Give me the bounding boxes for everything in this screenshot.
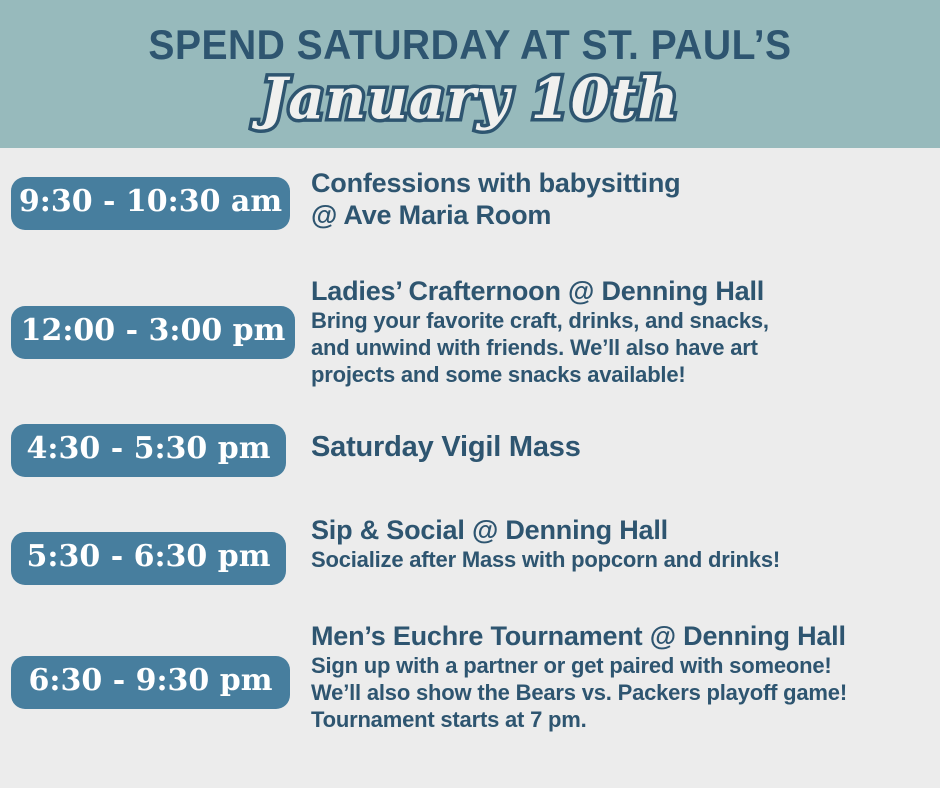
event-title: Confessions with babysitting [311,167,936,199]
event-description-line: Bring your favorite craft, drinks, and s… [311,307,936,334]
event-details: Men’s Euchre Tournament @ Denning HallSi… [311,620,936,733]
event-description-line: Tournament starts at 7 pm. [311,706,936,733]
schedule-list: 9:30 - 10:30 amConfessions with babysitt… [0,148,940,788]
page-title: SPEND SATURDAY AT ST. PAUL’S [33,22,907,68]
event-time-badge: 9:30 - 10:30 am [11,177,290,230]
event-description: Bring your favorite craft, drinks, and s… [311,307,936,388]
event-description-line: projects and some snacks available! [311,361,936,388]
event-description-line: Sign up with a partner or get paired wit… [311,652,936,679]
event-description-line: We’ll also show the Bears vs. Packers pl… [311,679,936,706]
event-details: Saturday Vigil Mass [311,431,936,463]
event-title: Men’s Euchre Tournament @ Denning Hall [311,620,936,652]
event-details: Confessions with babysitting@ Ave Maria … [311,167,936,231]
event-time-badge: 12:00 - 3:00 pm [11,306,295,359]
event-description: Socialize after Mass with popcorn and dr… [311,546,936,573]
event-description-line: Socialize after Mass with popcorn and dr… [311,546,936,573]
event-description-line: and unwind with friends. We’ll also have… [311,334,936,361]
event-details: Sip & Social @ Denning HallSocialize aft… [311,514,936,573]
event-title: Sip & Social @ Denning Hall [311,514,936,546]
event-time-badge: 4:30 - 5:30 pm [11,424,286,477]
event-title: Ladies’ Crafternoon @ Denning Hall [311,275,936,307]
event-time-badge: 6:30 - 9:30 pm [11,656,290,709]
event-description: Sign up with a partner or get paired wit… [311,652,936,733]
event-title: Saturday Vigil Mass [311,431,936,463]
header-banner: SPEND SATURDAY AT ST. PAUL’S January 10t… [0,0,940,148]
event-time-badge: 5:30 - 6:30 pm [11,532,286,585]
event-details: Ladies’ Crafternoon @ Denning HallBring … [311,275,936,388]
event-date-heading: January 10th [0,66,940,132]
event-title: @ Ave Maria Room [311,199,936,231]
